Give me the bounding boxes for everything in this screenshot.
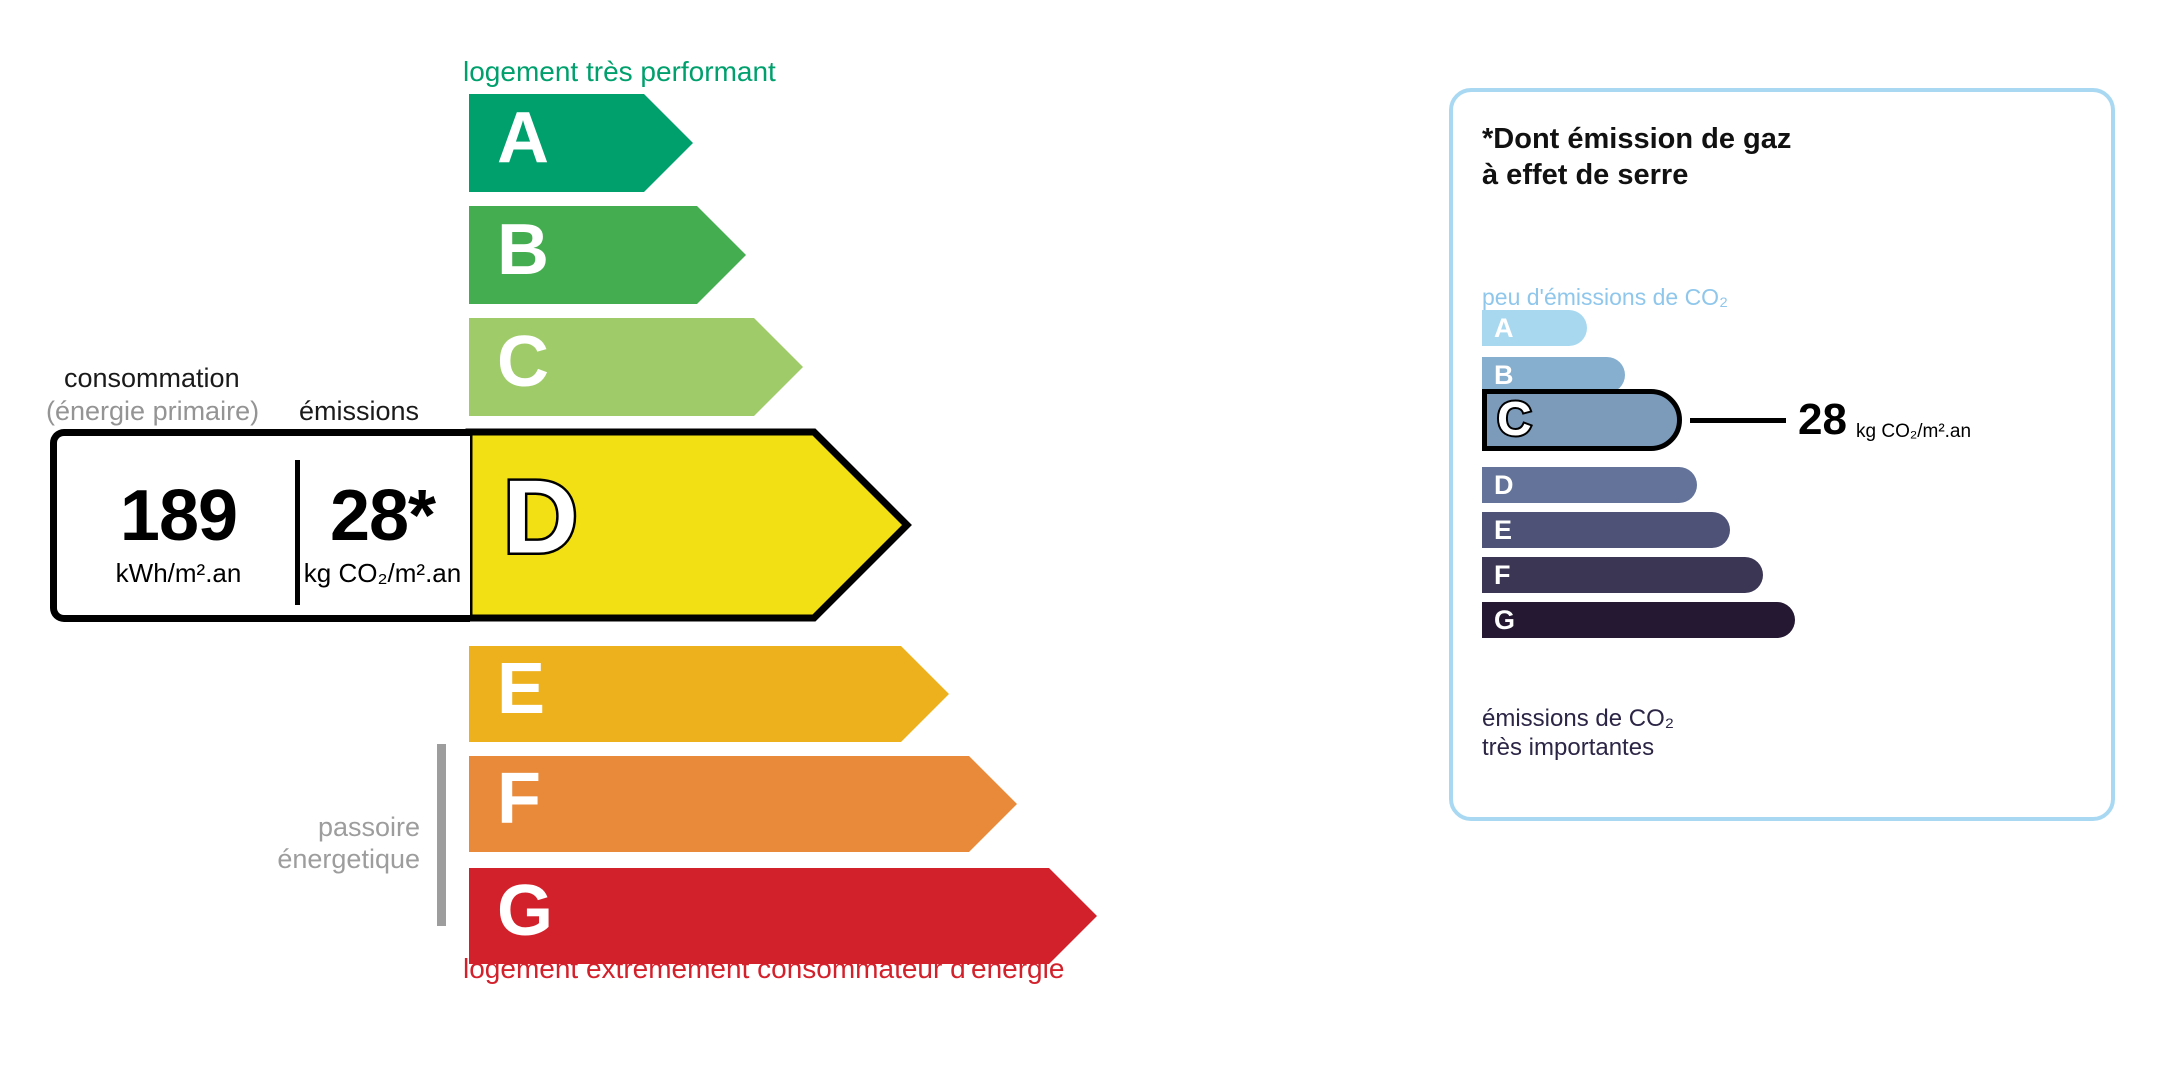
dpe-diagram: logement très performant ABCDEFG consomm… [0, 0, 2169, 1079]
emissions-unit: kg CO₂/m².an [300, 558, 465, 589]
co2-bar-letter: B [1494, 362, 1514, 389]
emissions-value-cell: 28* kg CO₂/m².an [300, 480, 465, 589]
consumption-value-cell: 189 kWh/m².an [71, 480, 286, 589]
energy-band-c[interactable]: C [463, 312, 809, 422]
co2-bar-b[interactable]: B [1482, 357, 1625, 393]
energy-band-b[interactable]: B [463, 200, 752, 310]
co2-callout-unit: kg CO₂/m².an [1856, 422, 1971, 441]
band-letter: F [497, 759, 541, 839]
band-letter: E [497, 649, 545, 729]
co2-bar-g[interactable]: G [1482, 602, 1795, 638]
co2-panel-title: *Dont émission de gaz à effet de serre [1482, 122, 1791, 194]
co2-callout-line [1690, 418, 1786, 423]
co2-panel: *Dont émission de gaz à effet de serre p… [1449, 88, 2115, 821]
consumption-label: consommation [64, 363, 240, 394]
co2-bar-letter: C [1497, 396, 1532, 444]
co2-bar-c[interactable]: C [1482, 389, 1682, 451]
co2-bar-a[interactable]: A [1482, 310, 1587, 346]
co2-bar-letter: F [1494, 562, 1511, 589]
emissions-label: émissions [299, 396, 419, 427]
band-letter: C [497, 322, 549, 402]
consumption-unit: kWh/m².an [71, 558, 286, 589]
energy-band-d[interactable]: D [463, 426, 913, 624]
band-letter: B [497, 210, 549, 290]
co2-bottom-caption: émissions de CO₂ très importantes [1482, 705, 1674, 763]
co2-bar-f[interactable]: F [1482, 557, 1763, 593]
energy-band-e[interactable]: E [463, 640, 955, 748]
energy-band-a[interactable]: A [463, 88, 699, 198]
co2-bar-d[interactable]: D [1482, 467, 1697, 503]
energy-bottom-caption: logement extrêmement consommateur d'éner… [463, 953, 1064, 985]
consumption-value: 189 [71, 480, 286, 552]
passoire-bracket [437, 744, 446, 926]
co2-top-caption: peu d'émissions de CO₂ [1482, 284, 1728, 311]
co2-bar-letter: G [1494, 607, 1515, 634]
band-shape [469, 868, 1097, 964]
emissions-value: 28* [300, 480, 465, 552]
co2-bar-letter: D [1494, 472, 1514, 499]
co2-bar-letter: A [1494, 315, 1514, 342]
band-letter: G [497, 871, 553, 951]
consumption-sublabel: (énergie primaire) [46, 396, 259, 427]
energy-band-f[interactable]: F [463, 750, 1023, 858]
value-box: 189 kWh/m².an 28* kg CO₂/m².an [50, 429, 470, 622]
band-letter: D [503, 459, 578, 575]
energy-top-caption: logement très performant [463, 56, 776, 88]
band-letter: A [497, 98, 549, 178]
co2-bar-e[interactable]: E [1482, 512, 1730, 548]
band-shape [469, 756, 1017, 852]
passoire-label: passoire énergetique [230, 812, 420, 876]
co2-callout-value: 28 [1798, 398, 1847, 442]
co2-bar-letter: E [1494, 517, 1512, 544]
energy-performance-panel: logement très performant ABCDEFG consomm… [0, 0, 1400, 1079]
